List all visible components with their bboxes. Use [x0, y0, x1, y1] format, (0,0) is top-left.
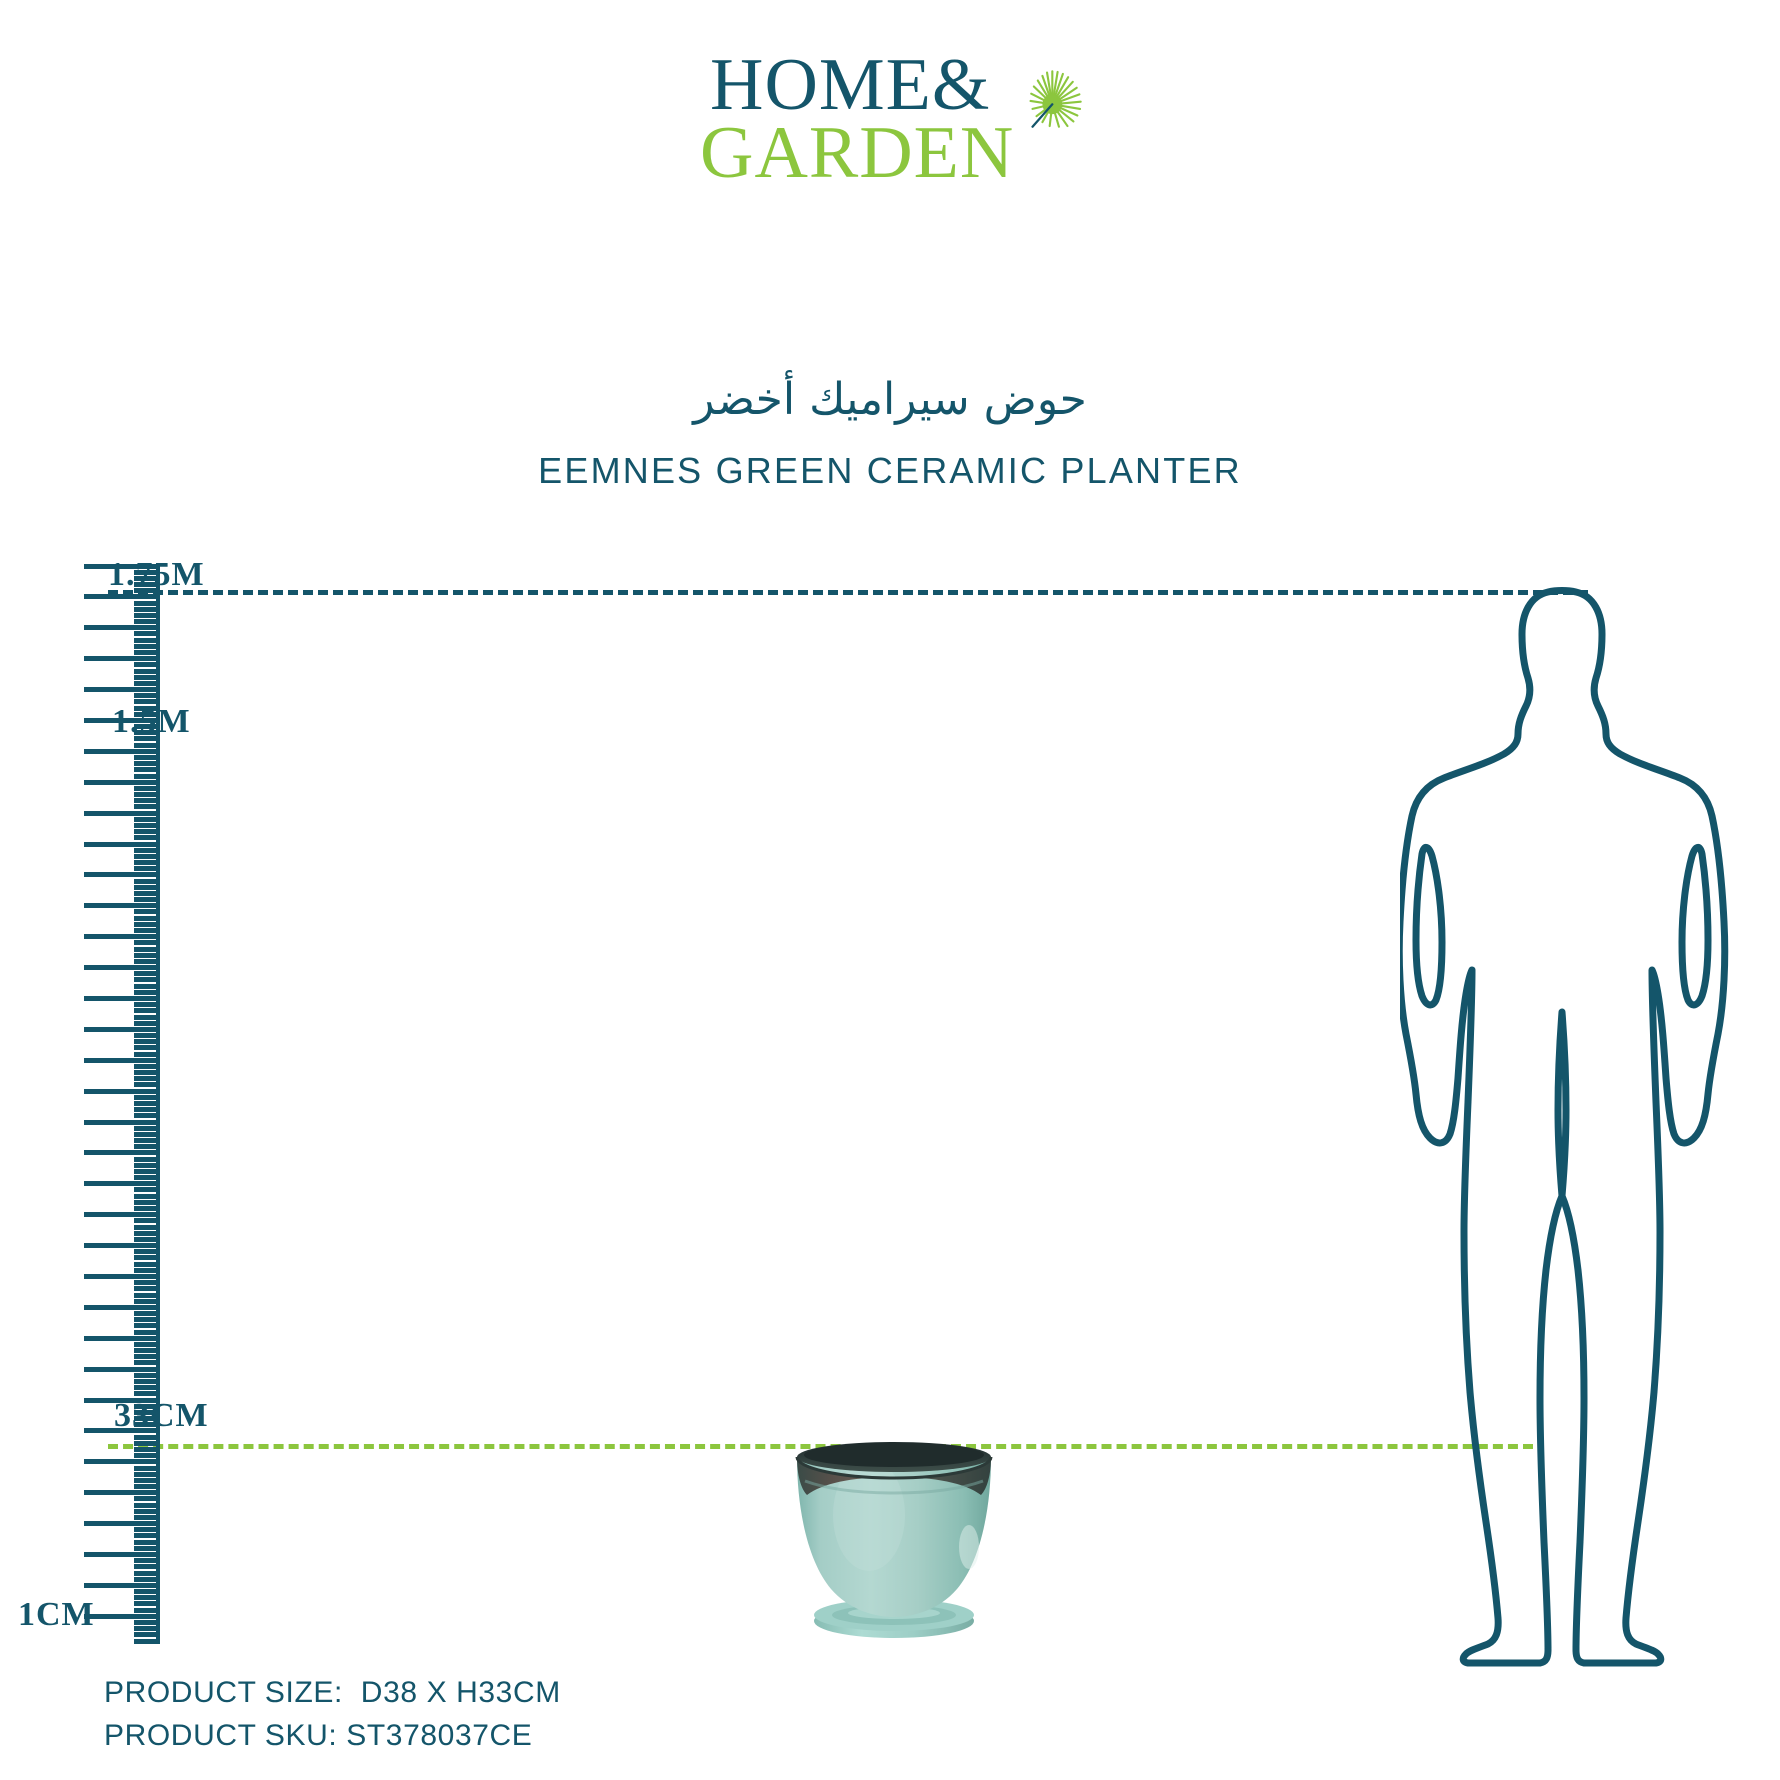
ruler-tick-major — [84, 1181, 160, 1186]
product-title-english: EEMNES GREEN CERAMIC PLANTER — [0, 450, 1780, 492]
ruler-tick-minor — [134, 1589, 160, 1594]
ruler-tick-minor — [134, 1379, 160, 1384]
ruler-tick-minor — [134, 971, 160, 976]
ruler-tick-minor — [134, 1002, 160, 1007]
ruler-tick-minor — [134, 761, 160, 766]
ruler-tick-major — [84, 1212, 160, 1217]
ruler-tick-minor — [134, 792, 160, 797]
ruler-tick-minor — [134, 835, 160, 840]
palm-leaf-icon — [1018, 66, 1084, 132]
ruler-tick-minor — [134, 601, 160, 606]
adult-silhouette — [1400, 582, 1740, 1667]
ruler-tick-minor — [134, 866, 160, 871]
ruler-tick-minor — [134, 607, 160, 612]
ruler-tick-major — [84, 842, 160, 847]
ruler-tick-minor — [134, 1082, 160, 1087]
ruler-tick-minor — [134, 1052, 160, 1057]
ruler-tick-minor — [134, 860, 160, 865]
ruler-tick-minor — [134, 854, 160, 859]
scale-label-1cm: 1CM — [18, 1596, 95, 1634]
ruler-tick-major — [84, 1089, 160, 1094]
ruler-tick-major — [84, 1027, 160, 1032]
ruler-tick-minor — [134, 1632, 160, 1637]
ruler-tick-minor — [134, 928, 160, 933]
ruler-tick-minor — [134, 829, 160, 834]
ruler-tick-minor — [134, 1021, 160, 1026]
ruler-tick-minor — [134, 1132, 160, 1137]
ruler-tick-minor — [134, 897, 160, 902]
ruler-tick-major — [84, 1552, 160, 1557]
ruler-tick-minor — [134, 743, 160, 748]
ruler-tick-minor — [134, 1237, 160, 1242]
ruler-tick-major — [84, 1305, 160, 1310]
ruler-tick-major — [84, 1274, 160, 1279]
ruler-tick-minor — [134, 767, 160, 772]
ruler-tick-minor — [134, 755, 160, 760]
brand-logo: HOME& GARDEN — [700, 48, 1100, 208]
ruler-tick-minor — [134, 1107, 160, 1112]
ruler-tick-minor — [134, 1441, 160, 1446]
size-guide-page: HOME& GARDEN — [0, 0, 1780, 1780]
planter-mouth — [797, 1442, 991, 1472]
ruler-tick-minor — [134, 1101, 160, 1106]
ruler-tick-minor — [134, 1317, 160, 1322]
ruler-tick-minor — [134, 1558, 160, 1563]
ruler-tick-minor — [134, 1323, 160, 1328]
ruler-tick-minor — [134, 1373, 160, 1378]
ruler-tick-major — [84, 687, 160, 692]
ruler-tick-minor — [134, 1015, 160, 1020]
ruler-tick-minor — [134, 1509, 160, 1514]
ruler-tick-major — [84, 996, 160, 1001]
ruler-tick-minor — [134, 1496, 160, 1501]
ruler-tick-major — [84, 749, 160, 754]
ruler-tick-minor — [134, 823, 160, 828]
product-title-arabic: حوض سيراميك أخضر — [0, 372, 1780, 427]
ruler-tick-minor — [134, 1546, 160, 1551]
ruler-tick-major — [84, 1150, 160, 1155]
ruler-tick-minor — [134, 1045, 160, 1050]
ruler-tick-minor — [134, 990, 160, 995]
ruler-tick-minor — [134, 1299, 160, 1304]
ruler-tick-minor — [134, 922, 160, 927]
ruler-tick-minor — [134, 1157, 160, 1162]
product-footer-info: PRODUCT SIZE: D38 X H33CM PRODUCT SKU: S… — [104, 1672, 561, 1757]
ruler-tick-minor — [134, 1571, 160, 1576]
ruler-tick-minor — [134, 947, 160, 952]
ruler-tick-minor — [134, 1218, 160, 1223]
ruler-tick-minor — [134, 1385, 160, 1390]
ruler-tick-minor — [134, 1249, 160, 1254]
ruler-tick-major — [84, 1459, 160, 1464]
ruler-tick-minor — [134, 977, 160, 982]
ruler-tick-minor — [134, 1194, 160, 1199]
ruler-tick-minor — [134, 1163, 160, 1168]
ruler-tick-minor — [134, 1138, 160, 1143]
ruler-tick-minor — [134, 1447, 160, 1452]
ruler-tick-major — [84, 1367, 160, 1372]
ruler-tick-minor — [134, 1076, 160, 1081]
ruler-tick-minor — [134, 613, 160, 618]
ruler-tick-major — [84, 1243, 160, 1248]
ruler-tick-major — [84, 1583, 160, 1588]
ruler-tick-minor — [134, 1126, 160, 1131]
ruler-tick-minor — [134, 1564, 160, 1569]
ruler-tick-minor — [134, 1187, 160, 1192]
ruler-tick-minor — [134, 953, 160, 958]
ruler-tick-major — [84, 872, 160, 877]
ruler-tick-minor — [134, 669, 160, 674]
ruler-tick-major — [84, 1058, 160, 1063]
ruler-tick-major — [84, 594, 160, 599]
ruler-tick-minor — [134, 693, 160, 698]
ruler-tick-minor — [134, 1200, 160, 1205]
ruler-tick-major — [84, 1490, 160, 1495]
ruler-tick-minor — [134, 1639, 160, 1644]
ruler-tick-minor — [134, 1064, 160, 1069]
ruler-tick-minor — [134, 644, 160, 649]
ruler-tick-minor — [134, 631, 160, 636]
ruler-tick-minor — [134, 1342, 160, 1347]
ruler-tick-minor — [134, 1039, 160, 1044]
ruler-tick-minor — [134, 1225, 160, 1230]
ruler-tick-minor — [134, 916, 160, 921]
ruler-tick-minor — [134, 1286, 160, 1291]
scale-label-15m: 1.5M — [112, 703, 191, 741]
ruler-tick-minor — [134, 675, 160, 680]
product-planter-image — [783, 1437, 1005, 1642]
ruler-tick-minor — [134, 909, 160, 914]
guide-line-person-height — [108, 590, 1588, 595]
ruler-tick-minor — [134, 786, 160, 791]
ruler-tick-minor — [134, 1472, 160, 1477]
ruler-tick-minor — [134, 1231, 160, 1236]
ruler-tick-minor — [134, 1033, 160, 1038]
ruler-tick-minor — [134, 1354, 160, 1359]
ruler-tick-minor — [134, 1144, 160, 1149]
ruler-tick-minor — [134, 1268, 160, 1273]
ruler-tick-minor — [134, 1175, 160, 1180]
ruler-tick-minor — [134, 1169, 160, 1174]
ruler-tick-minor — [134, 650, 160, 655]
scale-label-33cm: 33CM — [114, 1397, 209, 1435]
brand-logo-garden-text: GARDEN — [700, 116, 1014, 190]
ruler-tick-major — [84, 780, 160, 785]
ruler-tick-minor — [134, 798, 160, 803]
ruler-tick-minor — [134, 1293, 160, 1298]
ruler-tick-major — [84, 1521, 160, 1526]
ruler-tick-minor — [134, 1435, 160, 1440]
ruler-tick-minor — [134, 879, 160, 884]
ruler-tick-minor — [134, 1262, 160, 1267]
ruler-tick-minor — [134, 1626, 160, 1631]
ruler-tick-minor — [134, 1360, 160, 1365]
ruler-tick-minor — [134, 804, 160, 809]
ruler-tick-minor — [134, 1484, 160, 1489]
ruler-tick-minor — [134, 1453, 160, 1458]
ruler-tick-minor — [134, 681, 160, 686]
ruler-tick-minor — [134, 1478, 160, 1483]
product-sku-text: PRODUCT SKU: ST378037CE — [104, 1715, 561, 1758]
ruler-tick-minor — [134, 1311, 160, 1316]
ruler-tick-major — [84, 1614, 160, 1619]
ruler-tick-minor — [134, 1466, 160, 1471]
product-size-text: PRODUCT SIZE: D38 X H33CM — [104, 1672, 561, 1715]
ruler-tick-minor — [134, 1095, 160, 1100]
brand-logo-home-text: HOME& — [710, 48, 990, 122]
ruler-tick-minor — [134, 959, 160, 964]
ruler-tick-major — [84, 903, 160, 908]
ruler-tick-minor — [134, 817, 160, 822]
ruler-tick-minor — [134, 984, 160, 989]
ruler-tick-minor — [134, 1348, 160, 1353]
ruler-tick-major — [84, 965, 160, 970]
ruler-tick-minor — [134, 662, 160, 667]
ruler-tick-minor — [134, 1620, 160, 1625]
ruler-tick-minor — [134, 848, 160, 853]
ruler-tick-minor — [134, 1330, 160, 1335]
ruler-tick-minor — [134, 1515, 160, 1520]
ruler-tick-minor — [134, 1533, 160, 1538]
ruler-tick-major — [84, 625, 160, 630]
ruler-tick-minor — [134, 1608, 160, 1613]
ruler-tick-minor — [134, 774, 160, 779]
ruler-tick-minor — [134, 1391, 160, 1396]
ruler-tick-minor — [134, 1008, 160, 1013]
ruler-tick-minor — [134, 1527, 160, 1532]
ruler-tick-minor — [134, 1113, 160, 1118]
ruler-tick-minor — [134, 619, 160, 624]
ruler-tick-minor — [134, 1540, 160, 1545]
ruler-tick-minor — [134, 940, 160, 945]
ruler-tick-minor — [134, 891, 160, 896]
ruler-tick-minor — [134, 1577, 160, 1582]
ruler-tick-major — [84, 1336, 160, 1341]
ruler-tick-minor — [134, 1206, 160, 1211]
ruler-tick-minor — [134, 638, 160, 643]
ruler-tick-minor — [134, 1503, 160, 1508]
ruler-tick-minor — [134, 885, 160, 890]
ruler-tick-major — [84, 1120, 160, 1125]
ruler-tick-minor — [134, 1595, 160, 1600]
scale-label-175m: 1.75M — [108, 556, 205, 594]
ruler-tick-minor — [134, 1601, 160, 1606]
ruler-tick-minor — [134, 1280, 160, 1285]
ruler-tick-major — [84, 811, 160, 816]
ruler-tick-major — [84, 656, 160, 661]
ruler-tick-major — [84, 934, 160, 939]
ruler-tick-minor — [134, 1255, 160, 1260]
ruler-tick-minor — [134, 1070, 160, 1075]
